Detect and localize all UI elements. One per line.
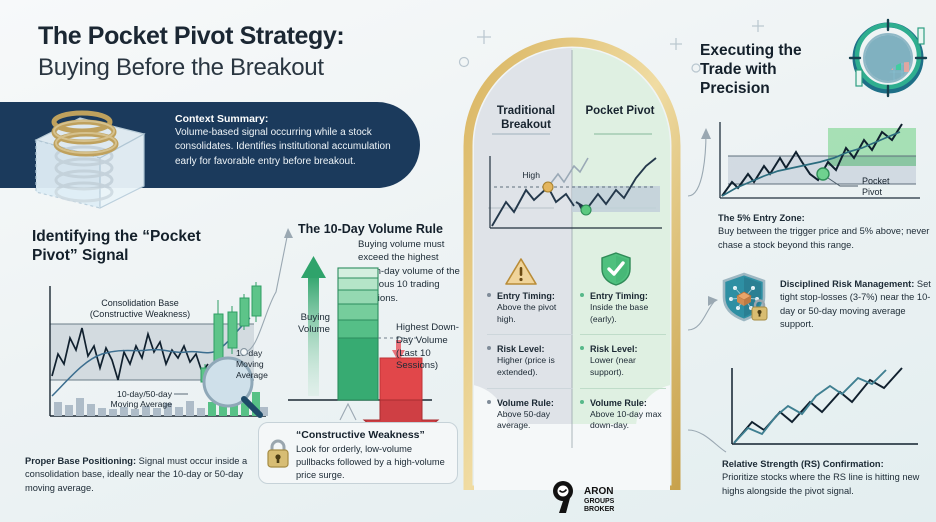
five-percent-entry-zone-chart: Pocket Pivot: [706, 118, 928, 210]
svg-text:BROKER: BROKER: [584, 506, 614, 513]
svg-text:GROUPS: GROUPS: [584, 498, 615, 505]
context-summary-label: Context Summary:: [175, 112, 400, 126]
buying-volume-bar: [338, 268, 378, 400]
context-summary-text: Context Summary: Volume-based signal occ…: [175, 112, 400, 169]
item-label: Risk Level:: [497, 343, 573, 355]
divider: [580, 388, 666, 389]
entry-caption-label: The 5% Entry Zone:: [718, 213, 805, 223]
rs-line: [734, 370, 886, 443]
item-value: Lower (near support).: [590, 355, 636, 377]
svg-text:Pocket: Pocket: [862, 176, 890, 186]
constructive-weakness-title: “Constructive Weakness”: [296, 429, 425, 441]
svg-text:(Constructive Weakness): (Constructive Weakness): [90, 309, 190, 319]
volume-rule-heading: The 10-Day Volume Rule: [298, 222, 473, 236]
right-section-heading: Executing the Trade with Precision: [700, 42, 820, 99]
svg-text:ARON: ARON: [584, 486, 613, 497]
shield-lock-icon: [722, 272, 772, 324]
pocket-pivot-marker: [817, 168, 829, 180]
divider: [487, 388, 573, 389]
risk-management-caption: Disciplined Risk Management: Set tight s…: [780, 278, 932, 332]
list-item: Risk Level: Higher (price is extended).: [487, 343, 573, 378]
list-item: Entry Timing: Inside the base (early).: [580, 290, 666, 325]
shield-check-icon: [600, 252, 632, 286]
relative-strength-caption: Relative Strength (RS) Confirmation: Pri…: [722, 458, 932, 498]
infographic-canvas: The Pocket Pivot Strategy: Buying Before…: [0, 0, 936, 522]
svg-text:10-day/50-day: 10-day/50-day: [117, 389, 173, 399]
item-label: Entry Timing:: [497, 290, 573, 302]
title-line-2: Buying Before the Breakout: [38, 54, 458, 83]
item-label: Risk Level:: [590, 343, 666, 355]
circle-sparkle-icon: [692, 64, 700, 72]
plus-sparkle-icon: [752, 20, 764, 32]
divider: [580, 334, 666, 335]
svg-text:Moving Average: Moving Average: [111, 399, 173, 409]
warning-triangle-icon: [504, 256, 538, 286]
base-positioning-caption: Proper Base Positioning: Signal must occ…: [25, 455, 270, 495]
high-marker: [543, 182, 553, 192]
title-line-1: The Pocket Pivot Strategy:: [38, 22, 458, 52]
rs-caption-body: Prioritize stocks where the RS line is h…: [722, 472, 919, 495]
item-label: Entry Timing:: [590, 290, 666, 302]
item-value: Above 50-day average.: [497, 409, 550, 431]
pivot-marker: [581, 205, 591, 215]
ma-10day-label: 10-day Moving Average: [236, 348, 278, 380]
svg-text:Pivot: Pivot: [862, 187, 883, 197]
breakout-extension-line: [548, 158, 588, 187]
list-item: Volume Rule: Above 10-day max down-day.: [580, 397, 666, 432]
item-label: Volume Rule:: [497, 397, 573, 409]
spring-in-box-icon: [18, 100, 158, 210]
traditional-breakout-title: Traditional Breakout: [486, 104, 566, 133]
traditional-breakout-list: Entry Timing: Above the pivot high. Risk…: [487, 290, 573, 441]
page-title: The Pocket Pivot Strategy: Buying Before…: [38, 22, 458, 82]
divider: [487, 334, 573, 335]
list-item: Risk Level: Lower (near support).: [580, 343, 666, 378]
entry-zone-caption: The 5% Entry Zone: Buy between the trigg…: [718, 212, 930, 252]
context-summary-body: Volume-based signal occurring while a st…: [175, 126, 400, 169]
pocket-pivot-list: Entry Timing: Inside the base (early). R…: [580, 290, 666, 441]
left-section-heading: Identifying the “Pocket Pivot” Signal: [32, 228, 242, 266]
list-item: Entry Timing: Above the pivot high.: [487, 290, 573, 325]
item-value: Higher (price is extended).: [497, 355, 555, 377]
svg-text:High: High: [522, 170, 540, 180]
pocket-pivot-title: Pocket Pivot: [580, 104, 660, 118]
list-item: Volume Rule: Above 50-day average.: [487, 397, 573, 432]
item-value: Above the pivot high.: [497, 302, 556, 324]
traditional-price-line: [492, 187, 574, 226]
target-crosshair-chart-icon: [846, 14, 930, 98]
down-day-volume-label: Highest Down-Day Volume (Last 10 Session…: [396, 322, 466, 373]
lock-icon: [264, 437, 292, 469]
buying-volume-label: Buying Volume: [282, 312, 330, 337]
constructive-weakness-body: Look for orderly, low-volume pullbacks f…: [296, 443, 446, 482]
svg-text:Consolidation Base: Consolidation Base: [101, 298, 179, 308]
relative-strength-chart: [722, 366, 922, 454]
item-label: Volume Rule:: [590, 397, 666, 409]
item-value: Above 10-day max down-day.: [590, 409, 662, 431]
risk-caption-label: Disciplined Risk Management:: [780, 279, 914, 289]
entry-caption-body: Buy between the trigger price and 5% abo…: [718, 226, 929, 249]
item-value: Inside the base (early).: [590, 302, 648, 324]
base-caption-label: Proper Base Positioning:: [25, 456, 136, 466]
rs-caption-label: Relative Strength (RS) Confirmation:: [722, 459, 884, 469]
aron-groups-broker-logo: ARON GROUPS BROKER: [546, 480, 656, 514]
breakout-vs-pivot-chart: High: [480, 150, 668, 245]
